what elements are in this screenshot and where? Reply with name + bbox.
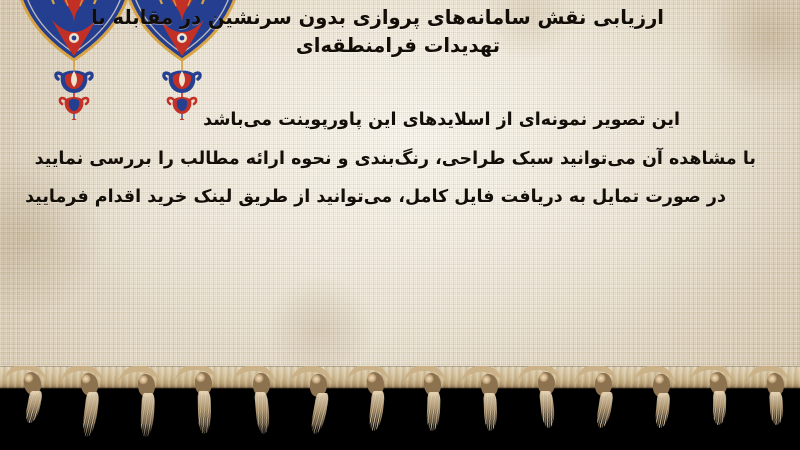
tassel-strands [654,393,670,428]
tassel-strands [769,392,784,425]
title-line-2: تهدیدات فرامنطقه‌ای [118,32,678,60]
carpet-fringe-tassels [0,366,800,450]
tassel-strands [713,391,727,425]
slide-title: ارزیابی نقش سامانه‌های پروازی بدون سرنشی… [118,4,678,59]
body-line-1: این تصویر نمونه‌ای از اسلایدهای این پاور… [24,112,776,130]
body-line-2: با مشاهده آن می‌توانید سبک طراحی، رنگ‌بن… [24,151,776,169]
tassel-strands [24,391,43,423]
tassel-strands [539,391,556,428]
body-line-3: در صورت تمایل به دریافت فایل کامل، می‌تو… [24,189,776,207]
tassel-strands [595,392,614,428]
fringe-bottom-shadow [0,424,800,450]
title-line-1: ارزیابی نقش سامانه‌های پروازی بدون سرنشی… [118,4,664,32]
slide-canvas: ارزیابی نقش سامانه‌های پروازی بدون سرنشی… [0,0,800,450]
slide-body: این تصویر نمونه‌ای از اسلایدهای این پاور… [24,112,776,228]
